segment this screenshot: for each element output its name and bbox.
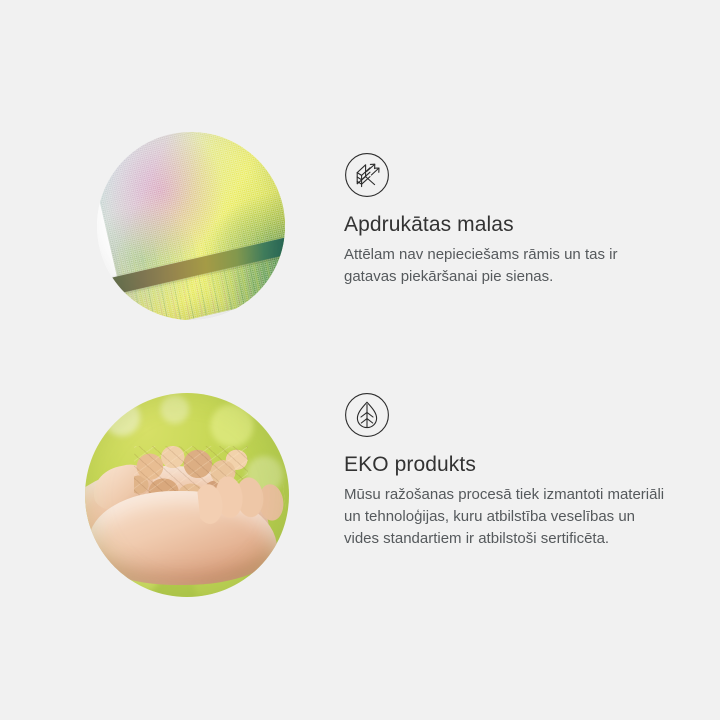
feature-text-eko-product: EKO produkts Mūsu ražošanas procesā tiek…: [344, 452, 674, 550]
feature-description: Mūsu ražošanas procesā tiek izmantoti ma…: [344, 484, 674, 550]
feature-description: Attēlam nav nepieciešams rāmis un tas ir…: [344, 244, 674, 288]
fingers: [196, 470, 288, 540]
leaf-icon: [344, 392, 390, 438]
wood-chips-photo: [85, 393, 289, 597]
feature-title: Apdrukātas malas: [344, 212, 674, 237]
feature-text-printed-edges: Apdrukātas malas Attēlam nav nepieciešam…: [344, 212, 674, 288]
feature-highlights-page: Apdrukātas malas Attēlam nav nepieciešam…: [0, 0, 720, 720]
printed-edges-icon: [344, 152, 390, 198]
canvas-corner-photo: [97, 132, 285, 320]
feature-title: EKO produkts: [344, 452, 674, 477]
